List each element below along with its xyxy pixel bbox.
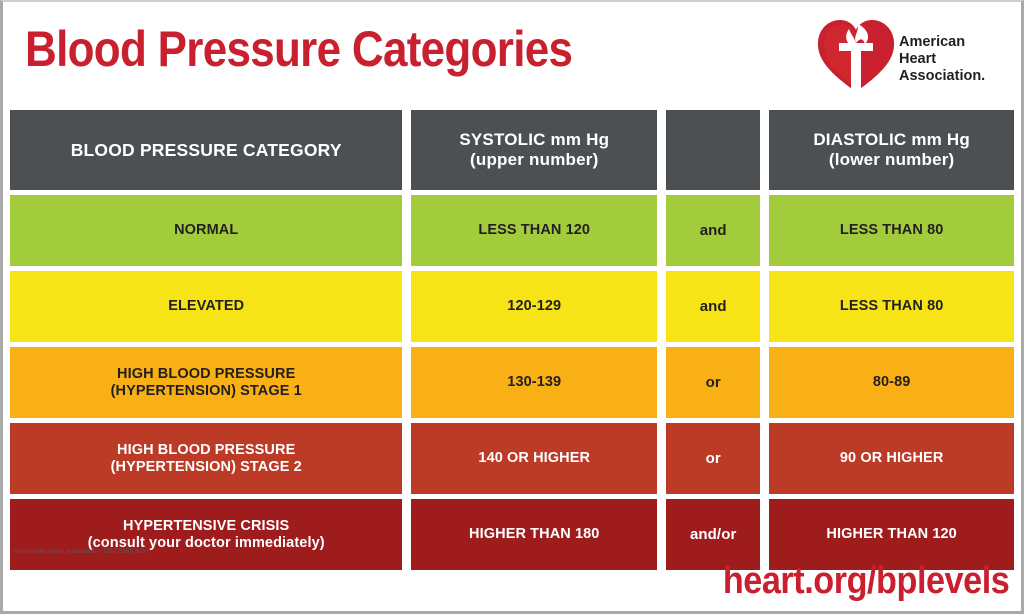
row-category-label: HYPERTENSIVE CRISIS (consult your doctor… bbox=[88, 518, 325, 551]
row-diastolic-value: HIGHER THAN 120 bbox=[826, 526, 956, 543]
row-category-label: HIGH BLOOD PRESSURE (HYPERTENSION) STAGE… bbox=[111, 366, 302, 399]
row-connector-normal: and bbox=[666, 195, 760, 266]
row-connector-value: and/or bbox=[690, 526, 736, 543]
column-header-systolic: SYSTOLIC mm Hg (upper number) bbox=[411, 110, 657, 190]
row-systolic-elevated: 120-129 bbox=[411, 271, 657, 342]
column-header-diastolic: DIASTOLIC mm Hg (lower number) bbox=[769, 110, 1014, 190]
aha-heart-torch-logo bbox=[813, 16, 899, 94]
row-connector-value: and bbox=[700, 222, 727, 239]
row-systolic-normal: LESS THAN 120 bbox=[411, 195, 657, 266]
row-diastolic-elevated: LESS THAN 80 bbox=[769, 271, 1014, 342]
row-diastolic-value: LESS THAN 80 bbox=[840, 298, 944, 315]
table-header-row: BLOOD PRESSURE CATEGORY SYSTOLIC mm Hg (… bbox=[10, 110, 1014, 190]
row-systolic-value: 130-139 bbox=[507, 374, 561, 391]
row-systolic-value: HIGHER THAN 180 bbox=[469, 526, 599, 543]
row-diastolic-stage1: 80-89 bbox=[769, 347, 1014, 418]
row-connector-stage2: or bbox=[666, 423, 760, 494]
row-category-label: NORMAL bbox=[174, 222, 238, 239]
bp-category-table: BLOOD PRESSURE CATEGORY SYSTOLIC mm Hg (… bbox=[10, 110, 1014, 575]
row-category-elevated: ELEVATED bbox=[10, 271, 402, 342]
column-header-systolic-label: SYSTOLIC mm Hg bbox=[459, 130, 609, 150]
page-title: Blood Pressure Categories bbox=[25, 20, 572, 78]
row-systolic-crisis: HIGHER THAN 180 bbox=[411, 499, 657, 570]
row-connector-elevated: and bbox=[666, 271, 760, 342]
row-category-label: ELEVATED bbox=[168, 298, 244, 315]
table-row: NORMAL LESS THAN 120 and LESS THAN 80 bbox=[10, 195, 1014, 266]
row-diastolic-value: 80-89 bbox=[873, 374, 911, 391]
footer-url[interactable]: heart.org/bplevels bbox=[723, 560, 1009, 603]
row-category-crisis: HYPERTENSIVE CRISIS (consult your doctor… bbox=[10, 499, 402, 570]
row-category-label: HIGH BLOOD PRESSURE (HYPERTENSION) STAGE… bbox=[111, 442, 302, 475]
column-header-systolic-sub: (upper number) bbox=[459, 150, 609, 170]
row-connector-value: and bbox=[700, 298, 727, 315]
table-row: HIGH BLOOD PRESSURE (HYPERTENSION) STAGE… bbox=[10, 347, 1014, 418]
row-diastolic-normal: LESS THAN 80 bbox=[769, 195, 1014, 266]
column-header-category: BLOOD PRESSURE CATEGORY bbox=[10, 110, 402, 190]
row-category-normal: NORMAL bbox=[10, 195, 402, 266]
row-diastolic-value: 90 OR HIGHER bbox=[840, 450, 944, 467]
row-systolic-value: LESS THAN 120 bbox=[478, 222, 590, 239]
row-connector-value: or bbox=[706, 450, 721, 467]
row-category-stage1: HIGH BLOOD PRESSURE (HYPERTENSION) STAGE… bbox=[10, 347, 402, 418]
column-header-diastolic-sub: (lower number) bbox=[813, 150, 970, 170]
row-connector-stage1: or bbox=[666, 347, 760, 418]
table-row: ELEVATED 120-129 and LESS THAN 80 bbox=[10, 271, 1014, 342]
table-row: HIGH BLOOD PRESSURE (HYPERTENSION) STAGE… bbox=[10, 423, 1014, 494]
copyright-notice: ©American Heart Association. DS-16580 8/… bbox=[14, 548, 148, 555]
row-systolic-stage1: 130-139 bbox=[411, 347, 657, 418]
row-diastolic-stage2: 90 OR HIGHER bbox=[769, 423, 1014, 494]
row-category-stage2: HIGH BLOOD PRESSURE (HYPERTENSION) STAGE… bbox=[10, 423, 402, 494]
row-systolic-value: 140 OR HIGHER bbox=[478, 450, 590, 467]
row-systolic-stage2: 140 OR HIGHER bbox=[411, 423, 657, 494]
column-header-category-label: BLOOD PRESSURE CATEGORY bbox=[71, 140, 342, 160]
row-systolic-value: 120-129 bbox=[507, 298, 561, 315]
column-header-diastolic-label: DIASTOLIC mm Hg bbox=[813, 130, 970, 150]
aha-logo: American Heart Association. bbox=[813, 16, 1003, 94]
blood-pressure-infographic: Blood Pressure Categories American Heart… bbox=[0, 0, 1024, 614]
header-band: Blood Pressure Categories American Heart… bbox=[3, 2, 1021, 108]
row-connector-value: or bbox=[706, 374, 721, 391]
aha-logo-text: American Heart Association. bbox=[899, 34, 985, 85]
row-diastolic-value: LESS THAN 80 bbox=[840, 222, 944, 239]
column-header-connector bbox=[666, 110, 760, 190]
